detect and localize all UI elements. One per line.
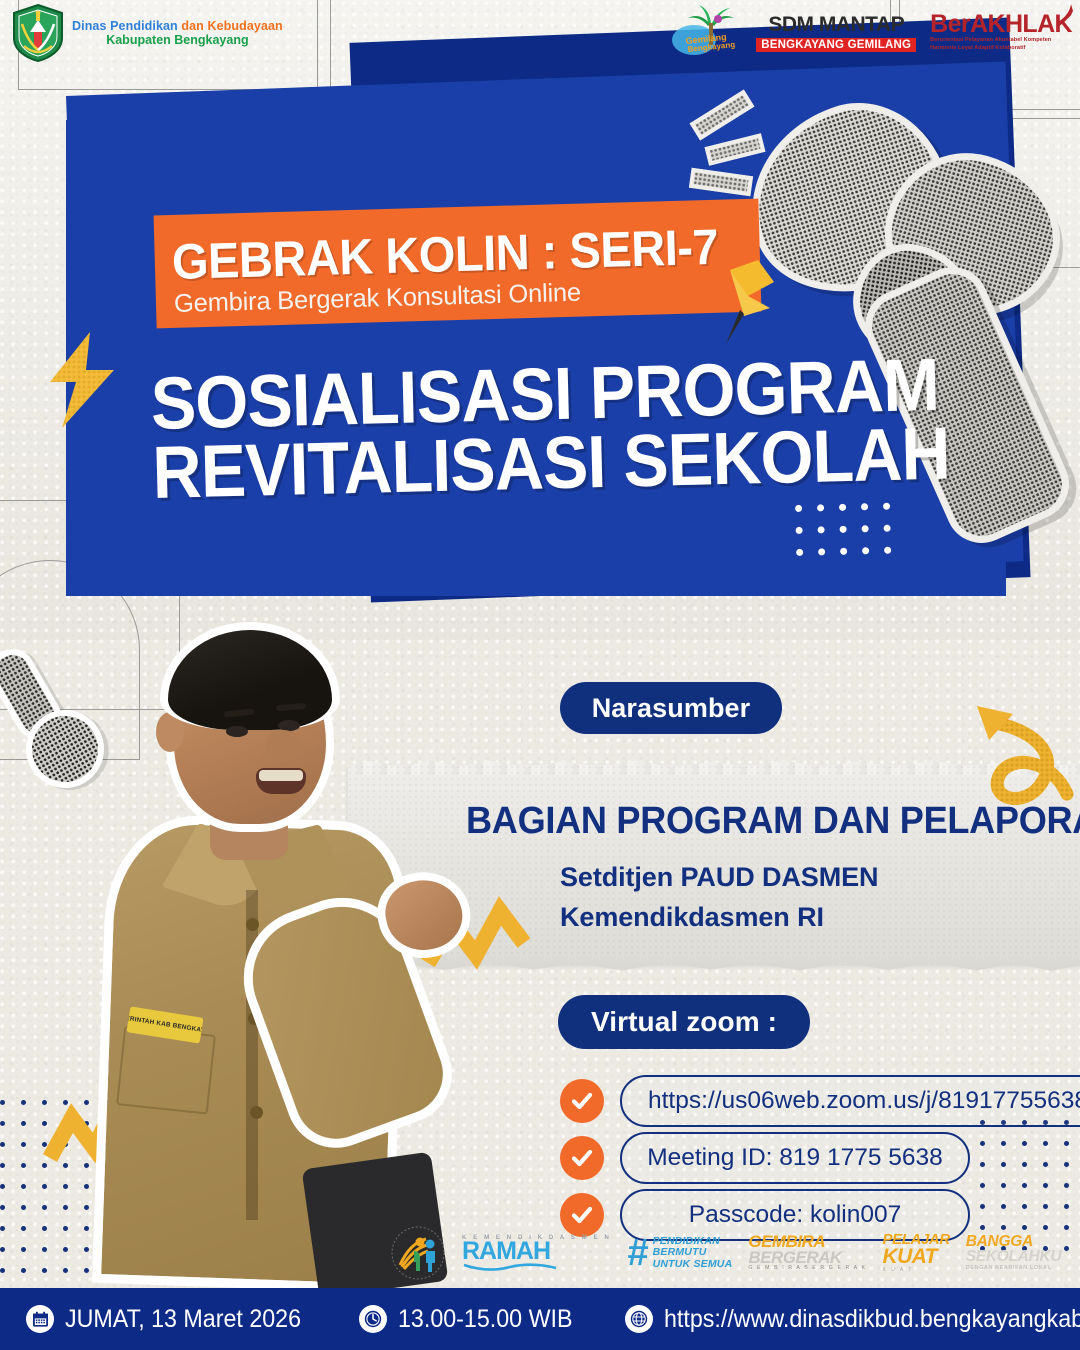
poster-canvas: Dinas Pendidikan dan Kebudayaan Kabupate… [0,0,1080,1350]
ramah-logo: K E M E N D I K D A S M E N RAMAH [462,1235,611,1270]
meeting-id-row[interactable]: Meeting ID: 819 1775 5638 [560,1132,970,1184]
bengkayang-regency-coat-of-arms-icon [12,4,64,62]
berakhlak-swoosh-icon [1054,3,1074,25]
footer-website[interactable]: https://www.dinasdikbud.bengkayangkab.go… [625,1305,1080,1334]
partner-logo-strip: K E M E N D I K D A S M E N RAMAH # PEND… [390,1222,1061,1284]
person-badge-text: PEMERINTAH KAB BENGKAYANG [126,1013,203,1037]
pbs-line-3: UNTUK SEMUA [653,1259,733,1270]
pelajar-line-3: K U A T [883,1267,914,1273]
narasumber-label: Narasumber [592,693,751,724]
zoom-link-row[interactable]: https://us06web.zoom.us/j/81917755638 [560,1075,1080,1127]
gembira-bergerak-logo: GEMBIRA BERGERAK G E M B I R A B E R G E… [748,1234,866,1271]
speaker-photo: PEMERINTAH KAB BENGKAYANG [60,600,440,1280]
gerakan-sekolah-sehat-logo [390,1225,446,1281]
clock-icon [359,1305,387,1333]
sdm-mantap-logo: SDM MANTAP BENGKAYANG GEMILANG [756,13,916,52]
header-partner-logos: Gemilang Bengkayang SDM MANTAP BENGKAYAN… [670,4,1072,60]
curly-arrow-icon [955,688,1080,848]
sdm-mantap-title: SDM MANTAP [756,13,916,37]
bangga-line-3: DENGAN KEARIFAN LOKAL [966,1265,1052,1271]
footer-date-text: JUMAT, 13 Maret 2026 [65,1305,301,1334]
calendar-icon [26,1305,54,1333]
pelajar-line-2: KUAT [883,1248,937,1267]
hash-icon: # [627,1238,648,1268]
lightning-bolt-icon [42,330,122,430]
person-mouth [256,768,306,794]
virtual-zoom-label: Virtual zoom : [591,1006,777,1038]
berakhlak-logo: BerAKHLAK Berorientasi Pelayanan Akuntab… [930,12,1072,51]
bangga-sekolahku-logo: BANGGA SEKOLAHKU DENGAN KEARIFAN LOKAL [966,1235,1061,1270]
pbs-line-2: BERMUTU [653,1247,733,1258]
person-button-1 [246,918,259,931]
push-pin-icon [718,256,788,346]
berakhlak-title: BerAKHLAK [930,12,1072,37]
zoom-link-text[interactable]: https://us06web.zoom.us/j/81917755638 [620,1075,1080,1127]
person-button-3 [250,1106,263,1119]
org-name-part2: dan Kebudayaan [178,19,283,33]
headline-block: SOSIALISASI PROGRAM REVITALISASI SEKOLAH [150,349,1020,508]
globe-icon [625,1305,653,1333]
header-branding: Dinas Pendidikan dan Kebudayaan Kabupate… [12,4,283,62]
check-circle-icon-2 [560,1136,604,1180]
berakhlak-sub2: Harmonis Loyal Adaptif Kolaboratif [930,45,1072,52]
footer-date: JUMAT, 13 Maret 2026 [26,1305,319,1334]
check-circle-icon-1 [560,1079,604,1123]
gembira-line-3: G E M B I R A B E R G E R A K [748,1265,866,1272]
bengkayang-gemilang-palm-logo: Gemilang Bengkayang [670,4,742,60]
ramah-main-text: RAMAH [462,1241,550,1262]
speaker-org-line-1: Setditjen PAUD DASMEN [560,862,878,893]
footer-bar: JUMAT, 13 Maret 2026 13.00-15.00 WIB htt… [0,1288,1080,1350]
bangga-line-2: SEKOLAHKU [966,1250,1061,1265]
footer-time-text: 13.00-15.00 WIB [398,1305,572,1334]
virtual-zoom-pill: Virtual zoom : [558,995,810,1049]
person-pocket [116,1025,216,1114]
footer-time: 13.00-15.00 WIB [359,1305,586,1334]
narasumber-pill: Narasumber [560,682,782,734]
meeting-id-text[interactable]: Meeting ID: 819 1775 5638 [620,1132,970,1184]
berakhlak-sub1: Berorientasi Pelayanan Akuntabel Kompete… [930,37,1072,44]
gembira-line-2: BERGERAK [748,1250,841,1265]
org-name-part1: Dinas Pendidikan [72,19,178,33]
footer-website-text[interactable]: https://www.dinasdikbud.bengkayangkab.go… [664,1305,1080,1334]
sdm-mantap-subtitle: BENGKAYANG GEMILANG [756,38,916,52]
org-region: Kabupaten Bengkayang [72,33,283,47]
ramah-swoosh-icon [462,1263,558,1271]
speaker-org-line-2: Kemendikdasmen RI [560,902,824,933]
pelajar-kuat-logo: PELAJAR KUAT K U A T [883,1233,950,1272]
person-eye-left [226,726,248,737]
headline-line-2: REVITALISASI SEKOLAH [152,419,951,507]
pendidikan-bermutu-logo: # PENDIDIKAN BERMUTU UNTUK SEMUA [627,1236,732,1270]
